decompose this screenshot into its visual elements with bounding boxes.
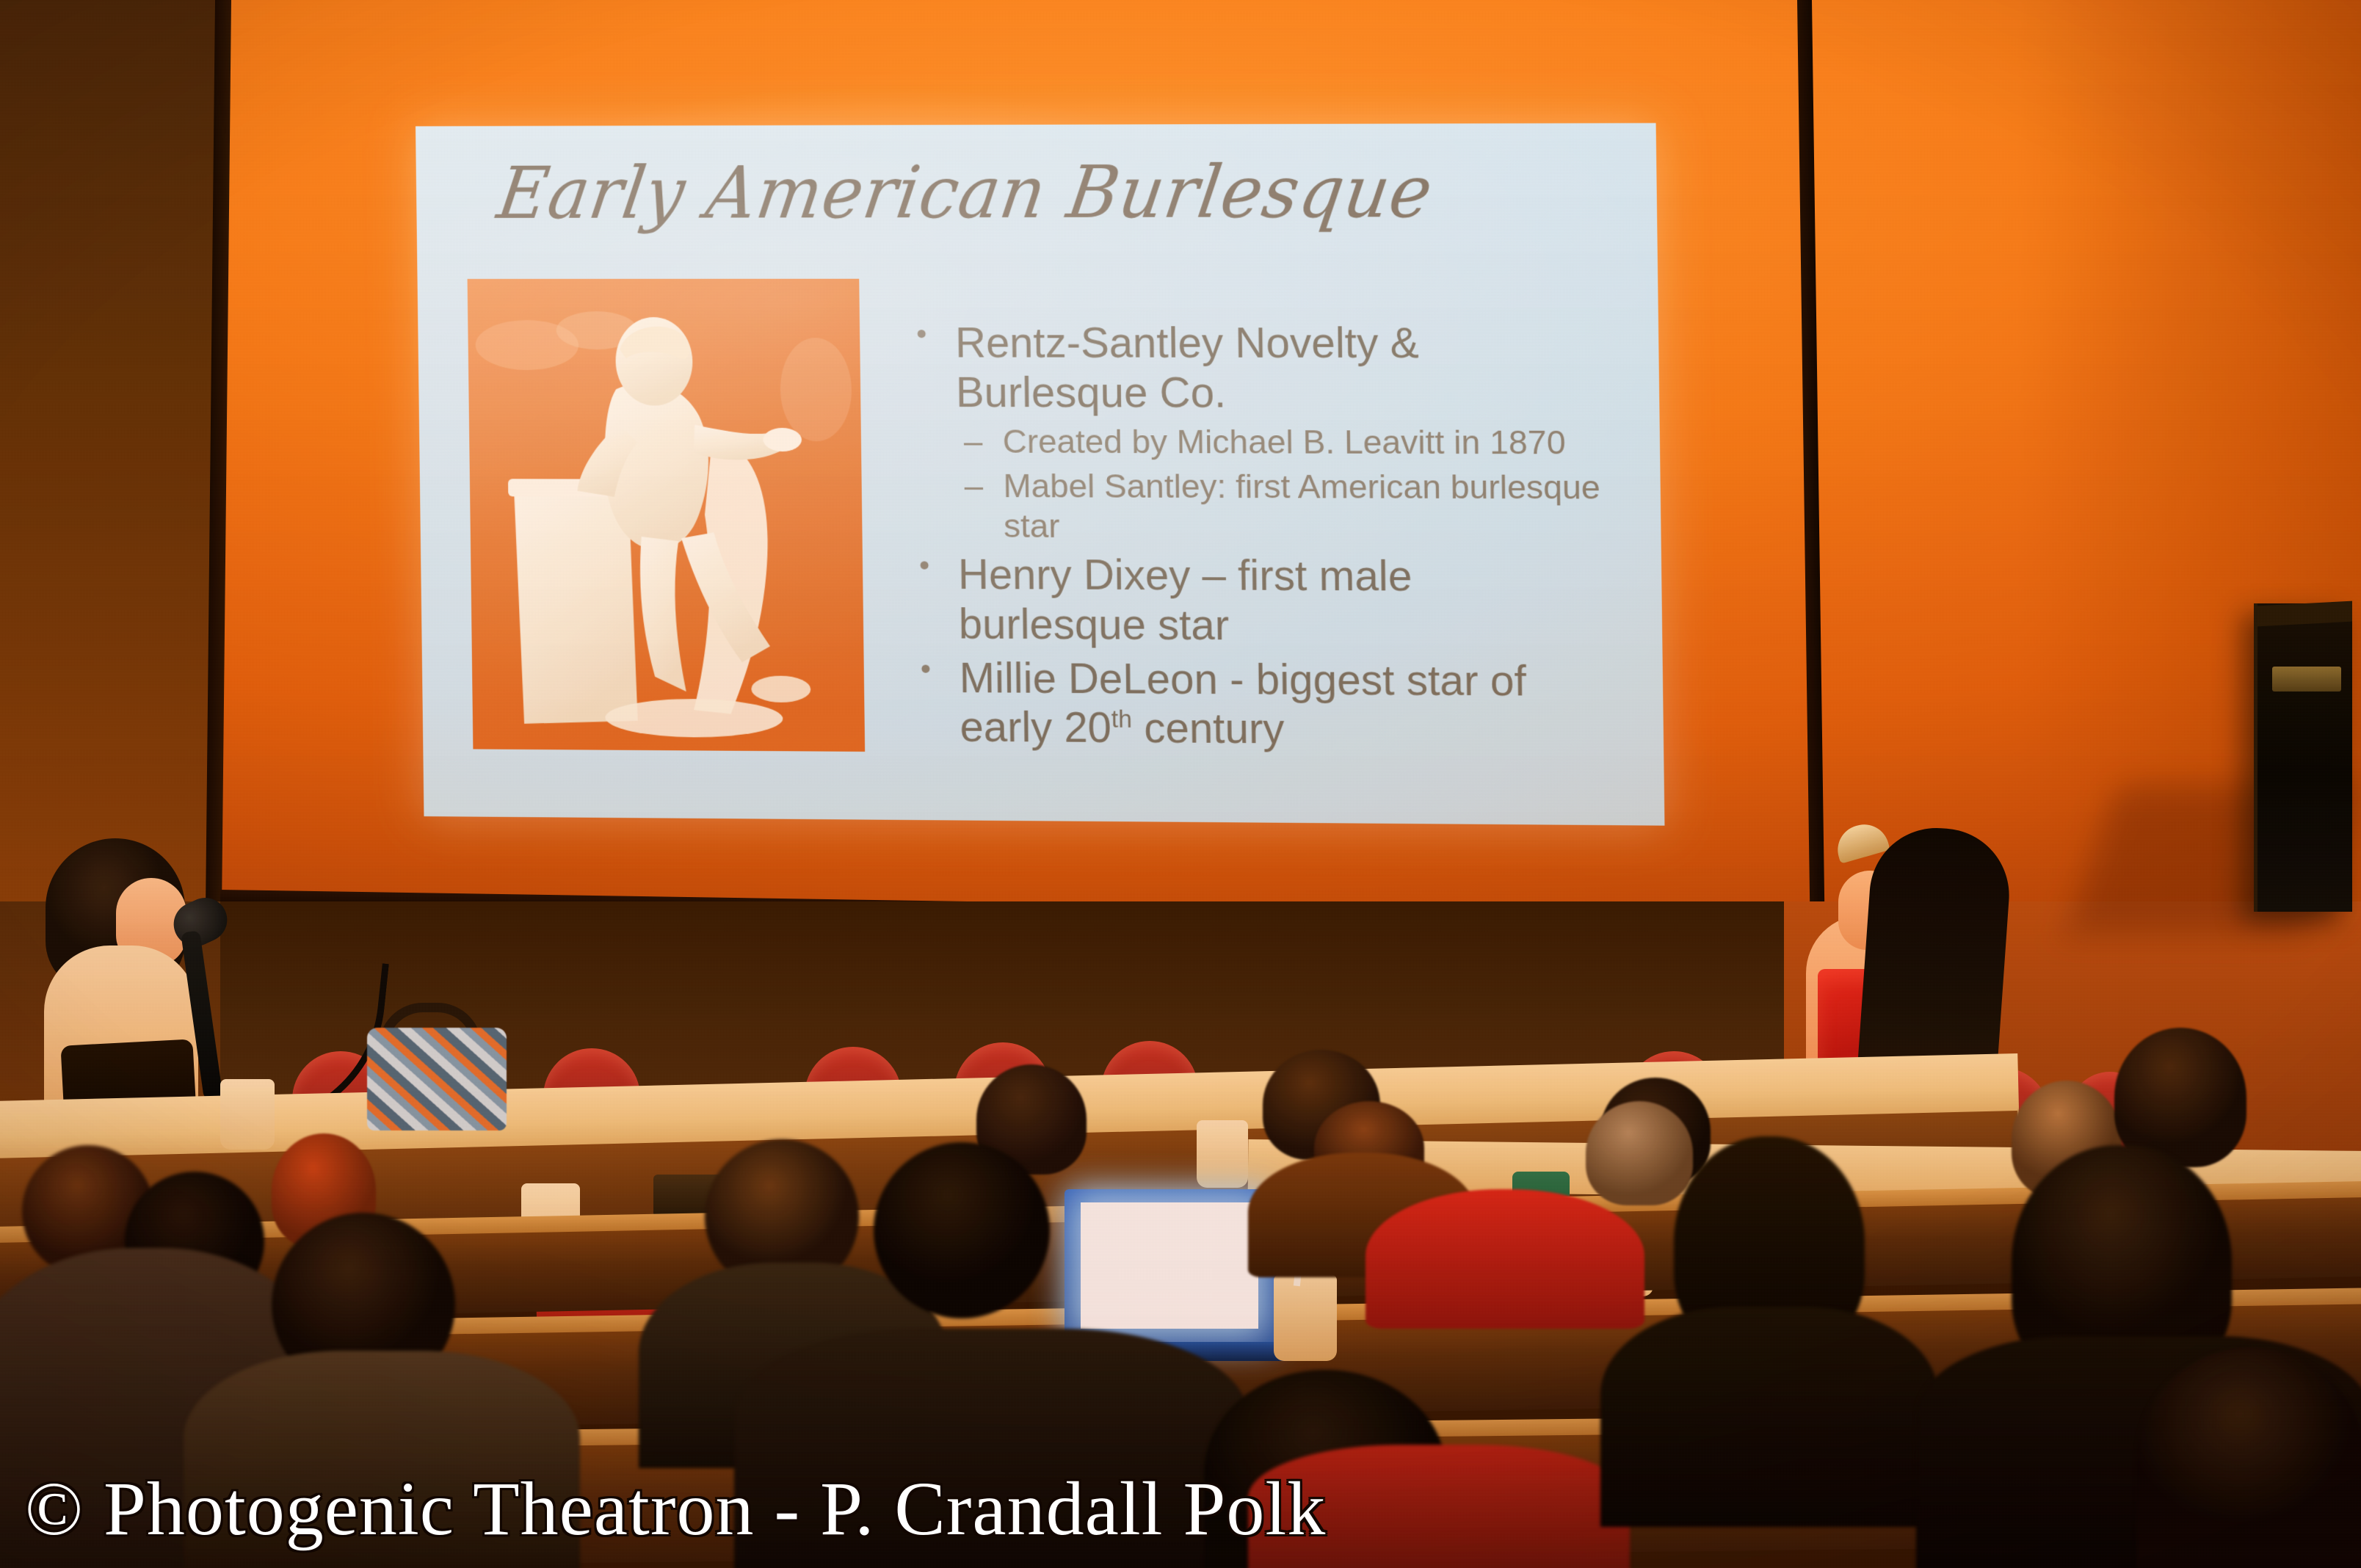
bullet-item: Rentz-Santley Novelty & Burlesque Co. bbox=[906, 319, 1606, 418]
slide-statue-image bbox=[468, 279, 866, 752]
drink-cup bbox=[1274, 1274, 1337, 1361]
laptop-screen[interactable] bbox=[1081, 1202, 1258, 1329]
statue-illustration bbox=[468, 279, 866, 752]
ordinal-suffix: th bbox=[1111, 706, 1133, 734]
audience-head bbox=[2136, 1348, 2361, 1568]
lecture-hall-photograph: Early American Burlesque bbox=[0, 0, 2361, 1568]
speaker-top-bevel bbox=[2257, 601, 2352, 627]
slide-bullet-list: Rentz-Santley Novelty & Burlesque Co. Cr… bbox=[906, 319, 1611, 761]
bullet-text-post: century bbox=[1132, 705, 1285, 753]
speaker-grille bbox=[2272, 667, 2341, 692]
copyright-watermark: © Photogenic Theatron - P. Crandall Polk bbox=[25, 1471, 1326, 1547]
audience-head bbox=[1586, 1101, 1693, 1205]
projected-slide: Early American Burlesque bbox=[416, 123, 1664, 826]
left-dark-wall bbox=[0, 0, 220, 947]
sub-bullet-item: Mabel Santley: first American burlesque … bbox=[907, 466, 1608, 548]
paper-cup bbox=[1197, 1120, 1248, 1188]
tote-bag bbox=[367, 1028, 507, 1130]
bullet-item: Millie DeLeon - biggest star of early 20… bbox=[910, 653, 1610, 757]
slide-title: Early American Burlesque bbox=[493, 154, 1611, 232]
laptop-lid[interactable] bbox=[1065, 1189, 1277, 1348]
slide-surface: Early American Burlesque bbox=[416, 123, 1664, 826]
audience-shoulders bbox=[1600, 1307, 1938, 1527]
paper-cup bbox=[220, 1079, 275, 1150]
pa-speaker bbox=[2254, 603, 2352, 912]
audience-red-jacket bbox=[1366, 1189, 1644, 1329]
sub-bullet-item: Created by Michael B. Leavitt in 1870 bbox=[907, 421, 1606, 463]
bullet-item: Henry Dixey – first male burlesque star bbox=[909, 551, 1609, 653]
audience-head bbox=[874, 1142, 1050, 1318]
